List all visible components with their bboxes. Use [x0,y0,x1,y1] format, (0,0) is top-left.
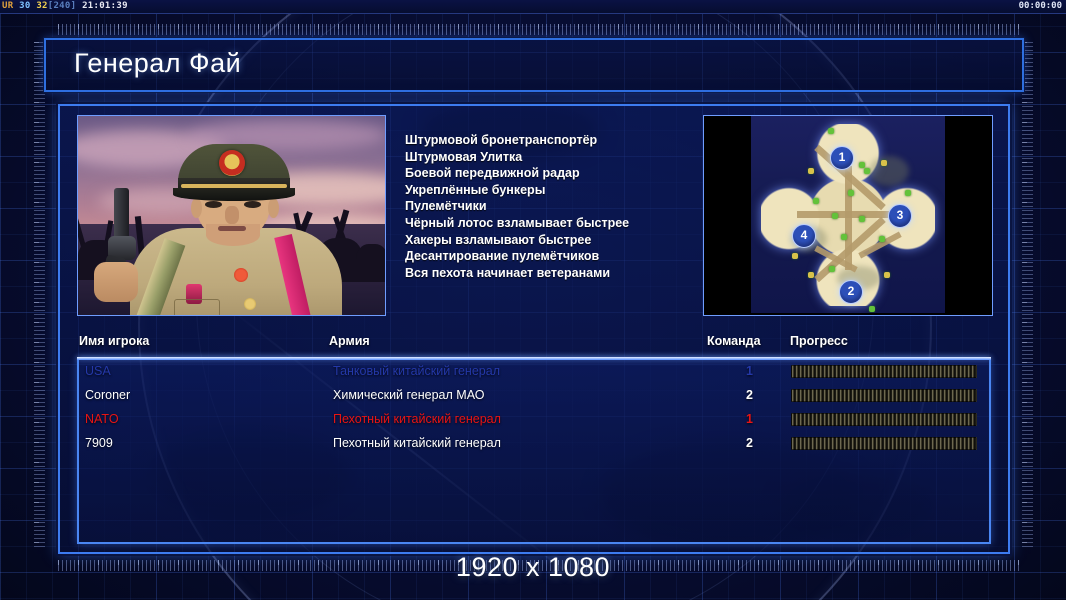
progress-bar [791,437,977,450]
minimap-terrain: 1 2 3 4 [751,116,945,313]
map-resource [792,253,798,259]
map-resource [841,234,847,240]
ruler-top [58,24,1020,35]
ability-line: Штурмовая Улитка [405,149,705,166]
cell-army: Пехотный китайский генерал [333,412,501,426]
cell-player: Coroner [85,388,130,402]
map-resource [859,216,865,222]
title-panel: Генерал Фай [44,38,1024,92]
map-resource [848,190,854,196]
cell-team: 2 [731,388,753,402]
soldier-silhouette [356,244,386,282]
map-road [797,211,901,218]
map-start-position-3[interactable]: 3 [888,204,912,228]
column-header-army: Армия [329,334,370,348]
map-resource [869,306,875,312]
page-title: Генерал Фай [74,48,241,79]
progress-bar [791,365,977,378]
player-table: Имя игрока Армия Команда Прогресс USA Та… [77,334,991,544]
cell-team: 1 [731,364,753,378]
map-road [845,166,852,270]
cell-team: 2 [731,436,753,450]
general-hand [94,262,138,302]
ability-line: Хакеры взламывают быстрее [405,232,705,249]
map-resource [879,236,885,242]
cell-team: 1 [731,412,753,426]
map-resource [884,272,890,278]
fps-counter: UR 30 32[240] 21:01:39 [2,0,128,13]
progress-bar [791,389,977,402]
map-resource [808,272,814,278]
table-row[interactable]: 7909 Пехотный китайский генерал 2 [79,432,989,456]
cell-player: NATO [85,412,119,426]
map-start-position-1[interactable]: 1 [830,146,854,170]
cell-army: Танковый китайский генерал [333,364,500,378]
main-panel: Штурмовой бронетранспортёр Штурмовая Ули… [58,104,1010,554]
ruler-left [34,42,45,550]
medal-icon [244,298,256,310]
general-mouth [218,226,246,231]
map-resource [808,168,814,174]
ability-line: Чёрный лотос взламывает быстрее [405,215,705,232]
column-header-player: Имя игрока [79,334,149,348]
table-row[interactable]: Coroner Химический генерал МАО 2 [79,384,989,408]
map-resource [829,266,835,272]
map-resource [832,213,838,219]
map-resource [881,160,887,166]
general-eye [205,201,222,208]
map-start-position-2[interactable]: 2 [839,280,863,304]
table-row[interactable]: USA Танковый китайский генерал 1 [79,360,989,384]
table-row[interactable]: NATO Пехотный китайский генерал 1 [79,408,989,432]
ability-line: Штурмовой бронетранспортёр [405,132,705,149]
map-resource [864,168,870,174]
general-nose [225,206,239,224]
resolution-label: 1920 x 1080 [0,552,1066,583]
cap-emblem-icon [219,150,245,176]
progress-bar [791,413,977,426]
column-header-team: Команда [707,334,761,348]
cap-brim [173,188,295,201]
general-ear [268,198,279,218]
ruler-right [1022,42,1033,550]
ability-line: Вся пехота начинает ветеранами [405,265,705,282]
minimap[interactable]: 1 2 3 4 [703,115,993,316]
ability-line: Укреплённые бункеры [405,182,705,199]
map-resource [813,198,819,204]
ability-line: Боевой передвижной радар [405,165,705,182]
map-resource [828,128,834,134]
general-eye [244,201,261,208]
ability-line: Десантирование пулемётчиков [405,248,705,265]
column-header-progress: Прогресс [790,334,848,348]
general-abilities-list: Штурмовой бронетранспортёр Штурмовая Ули… [405,132,705,281]
ability-line: Пулемётчики [405,198,705,215]
medal-icon [234,268,248,282]
uniform-pocket [174,299,220,316]
game-lobby-screen: UR 30 32[240] 21:01:39 00:00:00 Генерал … [0,0,1066,600]
map-resource [905,190,911,196]
map-shade [869,156,909,186]
cell-player: 7909 [85,436,113,450]
top-status-bar: UR 30 32[240] 21:01:39 00:00:00 [0,0,1066,14]
general-ear [191,198,202,218]
map-start-position-4[interactable]: 4 [792,224,816,248]
cell-army: Химический генерал МАО [333,388,484,402]
table-body: USA Танковый китайский генерал 1 Coroner… [77,360,991,544]
cell-player: USA [85,364,111,378]
map-resource [859,162,865,168]
match-timer: 00:00:00 [1019,0,1062,13]
general-portrait [77,115,386,316]
table-header-row: Имя игрока Армия Команда Прогресс [77,334,991,357]
cell-army: Пехотный китайский генерал [333,436,501,450]
